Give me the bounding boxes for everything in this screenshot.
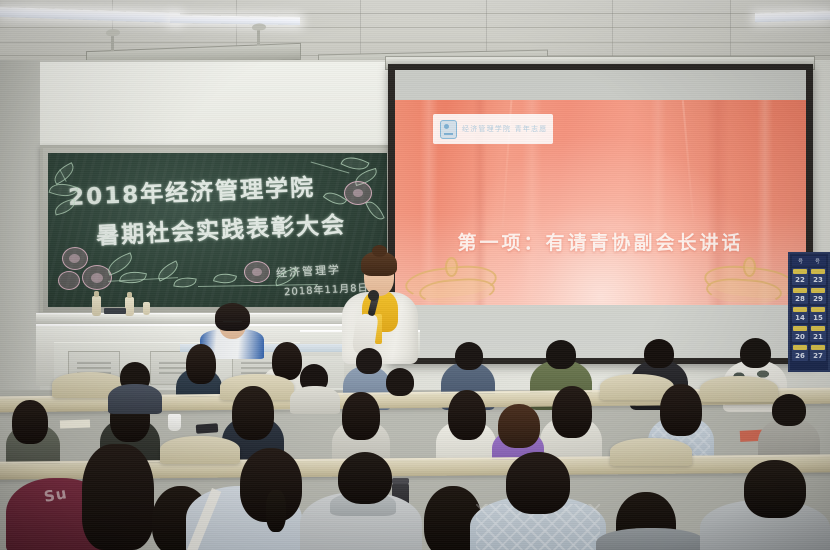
wall-chart-cell: 22 — [795, 277, 805, 284]
wall-chart-header-left: 号 — [798, 258, 803, 265]
ledge-bottle-2-cap — [127, 292, 132, 298]
wall-chart-cell: 14 — [795, 315, 805, 322]
wall-chart-cell: 28 — [795, 296, 805, 303]
curtain-fold — [650, 100, 666, 305]
student-body — [290, 386, 340, 414]
wall-chart-cell: 15 — [813, 315, 823, 322]
ledge-marker-tray — [104, 308, 126, 314]
slide-logo-banner: 经济管理学院 青年志愿者协会 — [433, 114, 553, 144]
wall-chart-row: 22 23 — [792, 268, 826, 285]
student-head — [386, 368, 414, 396]
blackboard-headline-line1: 2018年经济管理学院 — [67, 168, 315, 212]
slide-swag-right — [676, 257, 796, 305]
audience-front-row: Su — [0, 430, 830, 550]
blackboard-signature-org: 经济管理学 — [276, 261, 342, 280]
wall-chart-row: 28 29 — [792, 287, 826, 304]
slide-swag-left — [405, 257, 525, 305]
organization-logo-icon — [440, 120, 457, 139]
ledge-bottle-1-cap — [94, 291, 99, 297]
seated-host-glasses-icon — [223, 321, 242, 326]
wall-chart-cell: 29 — [813, 296, 823, 303]
microphone-head-icon — [368, 290, 379, 301]
ledge-bottle-2 — [125, 297, 134, 316]
student-body — [108, 384, 162, 414]
blackboard-surface: 2018年经济管理学院 暑期社会实践表彰大会 经济管理学 2018年11月8日 — [48, 153, 387, 307]
student-hair — [82, 444, 154, 550]
classroom-photo: 2018年经济管理学院 暑期社会实践表彰大会 经济管理学 2018年11月8日 — [0, 0, 830, 550]
student-hair — [506, 452, 570, 514]
speaker-hair-bun — [372, 245, 387, 257]
wall-chart-row: 14 15 — [792, 306, 826, 323]
wall-chart-header-right: 号 — [815, 258, 820, 265]
slide-logo-text: 经济管理学院 青年志愿者协会 — [462, 124, 546, 134]
wall-chart-cell: 23 — [813, 277, 823, 284]
student-body — [596, 528, 706, 550]
projected-slide: 经济管理学院 青年志愿者协会 第一项：有请青协副会长讲话 — [395, 100, 806, 305]
wall-chart-header: 号 号 — [792, 256, 826, 266]
projector-screen-surface: 经济管理学院 青年志愿者协会 第一项：有请青协副会长讲话 — [395, 70, 806, 358]
blackboard-headline-line2: 暑期社会实践表彰大会 — [95, 205, 346, 250]
wall-band-above-blackboard — [40, 62, 395, 147]
ledge-bottle-3 — [143, 302, 150, 315]
slide-title-text: 第一项：有请青协副会长讲话 — [395, 228, 806, 255]
projector-screen: 经济管理学院 青年志愿者协会 第一项：有请青协副会长讲话 — [388, 64, 813, 364]
audience-extra-heads — [0, 350, 830, 410]
ledge-bottle-1 — [92, 296, 101, 316]
ponytail — [266, 490, 286, 532]
seated-host-hair — [215, 303, 250, 331]
student-hair — [744, 460, 806, 518]
student-head — [338, 452, 392, 504]
